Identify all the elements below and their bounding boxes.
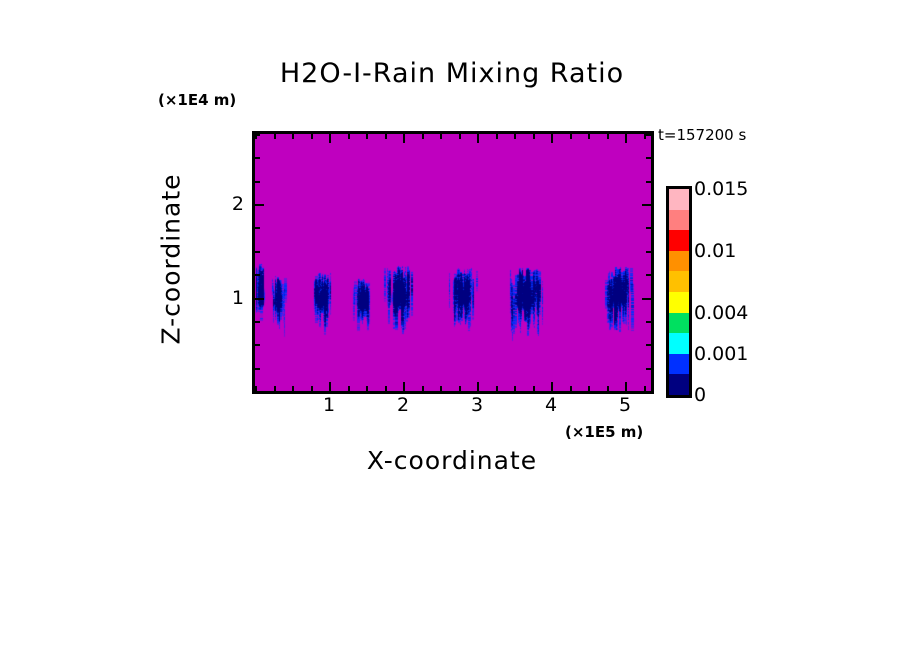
colorbar-band bbox=[669, 251, 689, 272]
x-minor-tick-top bbox=[348, 134, 350, 139]
x-minor-tick-top bbox=[514, 134, 516, 139]
x-major-tick-top bbox=[551, 134, 553, 143]
y-minor-tick-right bbox=[646, 134, 651, 136]
y-minor-tick-right bbox=[646, 181, 651, 183]
x-minor-tick-bottom bbox=[348, 386, 350, 391]
y-tick-label: 2 bbox=[222, 193, 244, 215]
x-minor-tick-top bbox=[422, 134, 424, 139]
x-tick-label: 1 bbox=[323, 394, 335, 416]
y-minor-tick-left bbox=[255, 251, 260, 253]
x-major-tick-top bbox=[329, 134, 331, 143]
y-minor-tick-right bbox=[646, 344, 651, 346]
y-major-tick-right bbox=[642, 298, 651, 300]
colorbar-band bbox=[669, 210, 689, 231]
x-minor-tick-top bbox=[588, 134, 590, 139]
y-axis-title: Z-coordinate bbox=[157, 173, 186, 344]
colorbar-band bbox=[669, 313, 689, 334]
x-minor-tick-top bbox=[440, 134, 442, 139]
plot-area bbox=[252, 131, 654, 394]
x-minor-tick-bottom bbox=[570, 386, 572, 391]
y-minor-tick-left bbox=[255, 368, 260, 370]
x-minor-tick-bottom bbox=[366, 386, 368, 391]
y-major-tick-left bbox=[255, 204, 264, 206]
y-tick-label: 1 bbox=[222, 287, 244, 309]
colorbar-band bbox=[669, 271, 689, 292]
y-major-tick-left bbox=[255, 298, 264, 300]
x-minor-tick-top bbox=[292, 134, 294, 139]
y-minor-tick-left bbox=[255, 227, 260, 229]
rain-field-heatmap bbox=[255, 134, 651, 391]
x-tick-label: 3 bbox=[471, 394, 483, 416]
x-major-tick-bottom bbox=[551, 382, 553, 391]
colorbar-tick-label: 0.004 bbox=[694, 302, 748, 324]
colorbar-band bbox=[669, 354, 689, 375]
y-minor-tick-right bbox=[646, 321, 651, 323]
x-minor-tick-bottom bbox=[422, 386, 424, 391]
y-major-tick-right bbox=[642, 204, 651, 206]
x-tick-label: 2 bbox=[397, 394, 409, 416]
x-minor-tick-top bbox=[459, 134, 461, 139]
x-axis-title: X-coordinate bbox=[0, 446, 904, 475]
x-minor-tick-bottom bbox=[607, 386, 609, 391]
x-minor-tick-bottom bbox=[459, 386, 461, 391]
time-annotation: t=157200 s bbox=[658, 126, 746, 144]
x-major-tick-top bbox=[477, 134, 479, 143]
x-minor-tick-bottom bbox=[514, 386, 516, 391]
colorbar-band bbox=[669, 189, 689, 210]
x-major-tick-bottom bbox=[477, 382, 479, 391]
colorbar-tick-label: 0.01 bbox=[694, 240, 736, 262]
x-minor-tick-bottom bbox=[274, 386, 276, 391]
x-tick-label: 4 bbox=[545, 394, 557, 416]
x-major-tick-top bbox=[403, 134, 405, 143]
colorbar-band bbox=[669, 333, 689, 354]
z-axis-unit-label: (×1E4 m) bbox=[158, 91, 236, 109]
x-minor-tick-bottom bbox=[385, 386, 387, 391]
colorbar bbox=[666, 186, 692, 398]
x-minor-tick-bottom bbox=[588, 386, 590, 391]
colorbar-tick-label: 0.015 bbox=[694, 178, 748, 200]
x-minor-tick-top bbox=[607, 134, 609, 139]
x-minor-tick-top bbox=[570, 134, 572, 139]
x-minor-tick-top bbox=[274, 134, 276, 139]
x-axis-unit-label: (×1E5 m) bbox=[565, 423, 643, 441]
x-minor-tick-top bbox=[533, 134, 535, 139]
x-major-tick-top bbox=[625, 134, 627, 143]
x-major-tick-bottom bbox=[329, 382, 331, 391]
x-minor-tick-bottom bbox=[440, 386, 442, 391]
y-minor-tick-left bbox=[255, 134, 260, 136]
x-minor-tick-top bbox=[496, 134, 498, 139]
x-major-tick-bottom bbox=[625, 382, 627, 391]
x-minor-tick-bottom bbox=[496, 386, 498, 391]
y-minor-tick-left bbox=[255, 321, 260, 323]
x-minor-tick-top bbox=[311, 134, 313, 139]
y-minor-tick-right bbox=[646, 251, 651, 253]
y-minor-tick-left bbox=[255, 274, 260, 276]
y-minor-tick-right bbox=[646, 227, 651, 229]
x-tick-label: 5 bbox=[619, 394, 631, 416]
y-minor-tick-left bbox=[255, 391, 260, 393]
x-minor-tick-bottom bbox=[533, 386, 535, 391]
y-minor-tick-left bbox=[255, 344, 260, 346]
x-minor-tick-top bbox=[366, 134, 368, 139]
y-minor-tick-right bbox=[646, 274, 651, 276]
x-minor-tick-bottom bbox=[292, 386, 294, 391]
chart-title: H2O-I-Rain Mixing Ratio bbox=[0, 58, 904, 89]
x-major-tick-bottom bbox=[403, 382, 405, 391]
y-minor-tick-right bbox=[646, 368, 651, 370]
y-minor-tick-left bbox=[255, 181, 260, 183]
colorbar-band bbox=[669, 230, 689, 251]
y-minor-tick-right bbox=[646, 391, 651, 393]
colorbar-band bbox=[669, 292, 689, 313]
y-minor-tick-left bbox=[255, 157, 260, 159]
colorbar-tick-label: 0 bbox=[694, 384, 706, 406]
x-minor-tick-top bbox=[385, 134, 387, 139]
colorbar-band bbox=[669, 374, 689, 395]
colorbar-tick-label: 0.001 bbox=[694, 343, 748, 365]
x-minor-tick-bottom bbox=[311, 386, 313, 391]
y-minor-tick-right bbox=[646, 157, 651, 159]
